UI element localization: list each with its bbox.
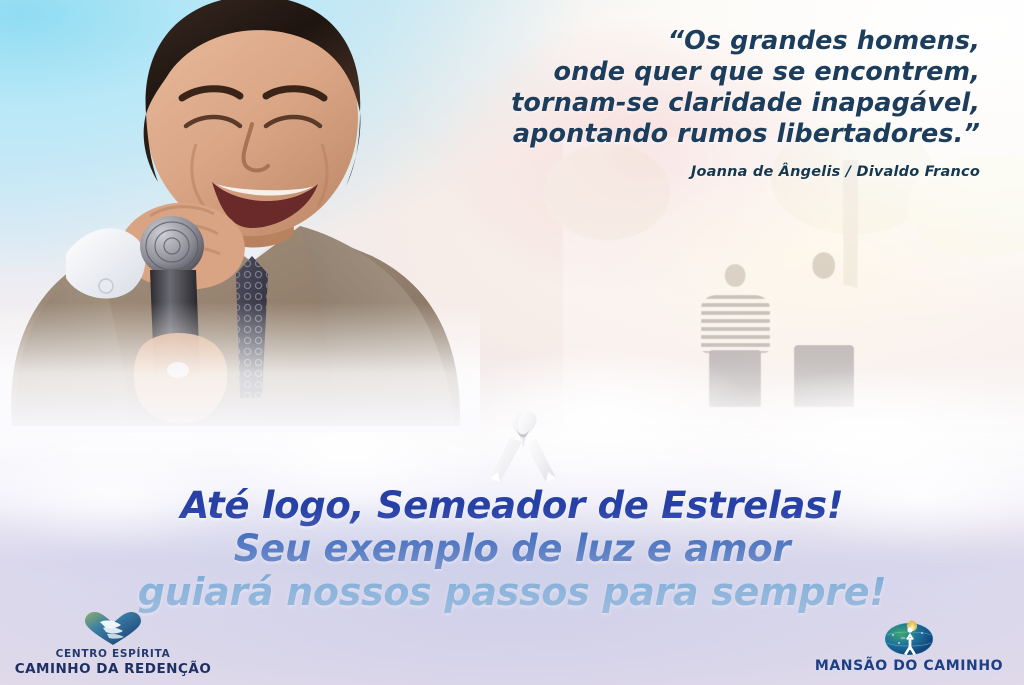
quote-line-2: onde quer que se encontrem, bbox=[420, 57, 980, 88]
logo-left-line-2: CAMINHO DA REDENÇÃO bbox=[8, 661, 218, 677]
memorial-poster: “Os grandes homens, onde quer que se enc… bbox=[0, 0, 1024, 685]
portrait-photo bbox=[0, 0, 470, 426]
logo-left-line-1: CENTRO ESPÍRITA bbox=[8, 648, 218, 661]
portrait-hand-lower bbox=[134, 333, 227, 424]
logo-centro-espirita: CENTRO ESPÍRITA CAMINHO DA REDENÇÃO bbox=[8, 612, 218, 677]
hands-heart-icon bbox=[83, 612, 143, 646]
globe-torch-figure-icon bbox=[881, 616, 937, 656]
quote-line-1: “Os grandes homens, bbox=[420, 26, 980, 57]
quote-attribution: Joanna de Ângelis / Divaldo Franco bbox=[420, 164, 980, 180]
logo-right-label: MANSÃO DO CAMINHO bbox=[804, 658, 1014, 675]
photo-fence bbox=[868, 315, 976, 361]
mourning-ribbon-icon bbox=[486, 408, 560, 492]
quote-line-4: apontando rumos libertadores.” bbox=[420, 119, 980, 150]
quote-line-3: tornam-se claridade inapagável, bbox=[420, 88, 980, 119]
quote-block: “Os grandes homens, onde quer que se enc… bbox=[420, 26, 980, 180]
logo-mansao-do-caminho: MANSÃO DO CAMINHO bbox=[804, 616, 1014, 675]
